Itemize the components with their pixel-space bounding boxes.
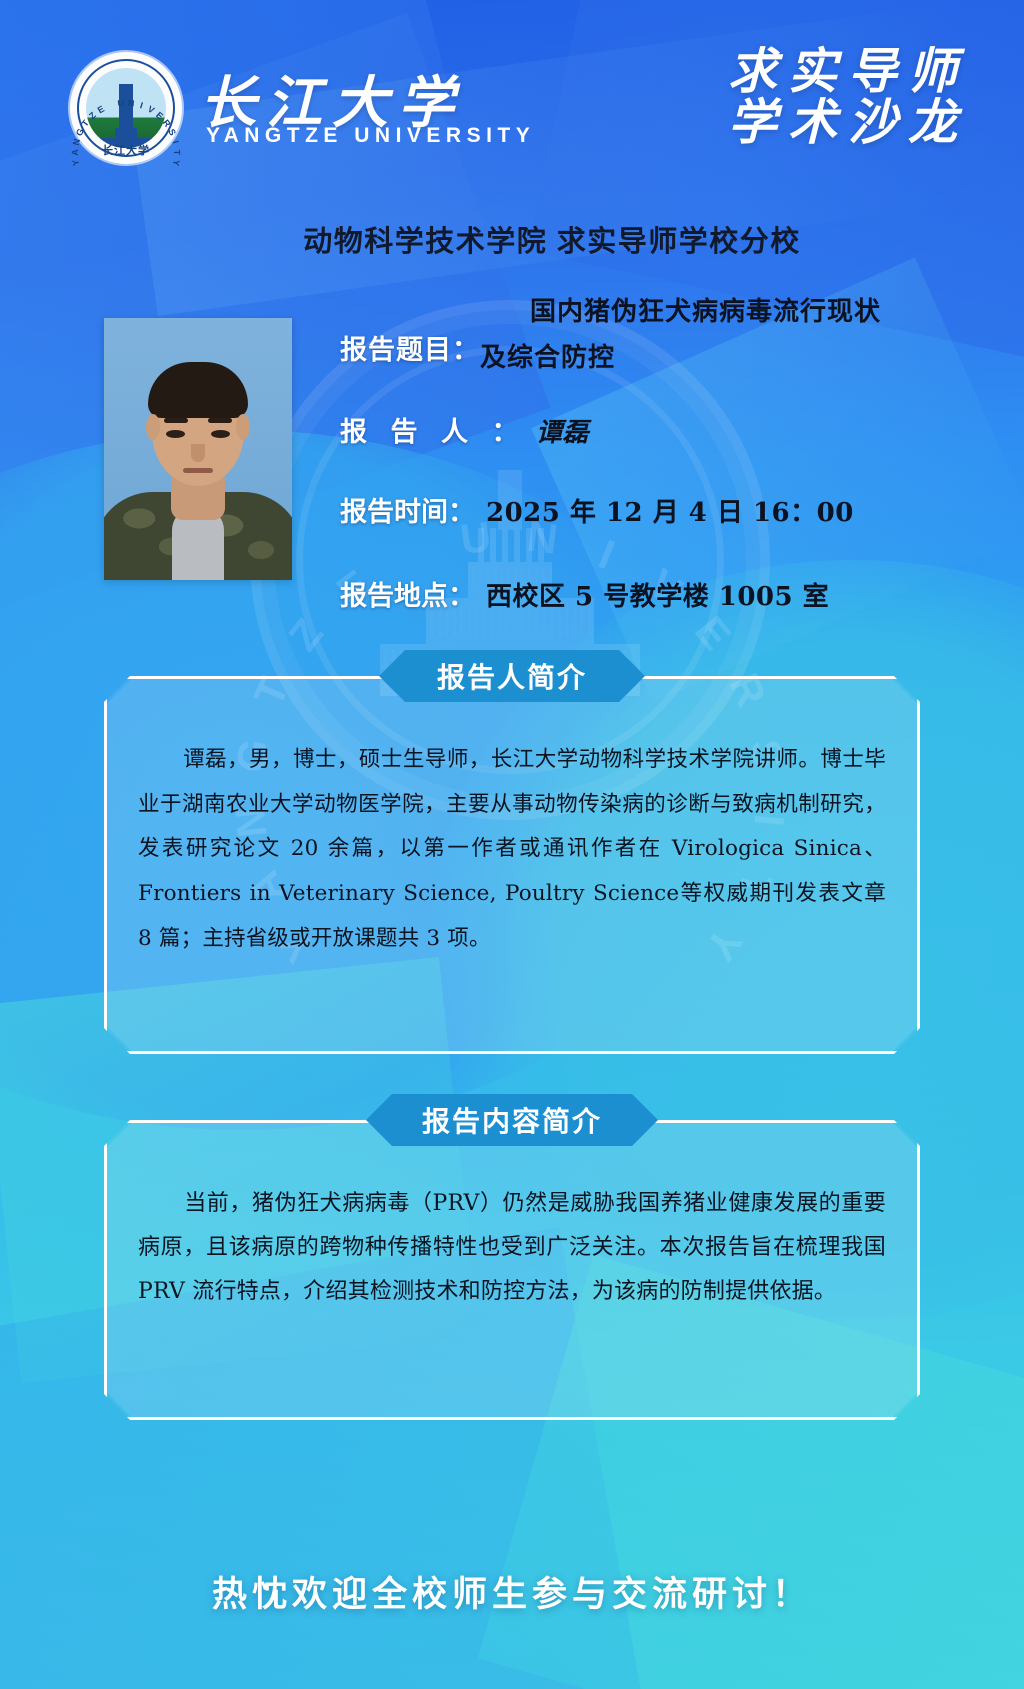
info-row-speaker: 报 告 人 ： 谭磊 [340,410,980,484]
time-label: 报告时间： [340,490,475,529]
info-row-title: 报告题目： 国内猪伪狂犬病病毒流行现状 及综合防控 [340,300,980,404]
info-row-time: 报告时间： 2025 年 12 月 4 日 16：00 [340,490,980,568]
calligraphy-line-2: 学术沙龙 [728,97,968,148]
title-value: 国内猪伪狂犬病病毒流行现状 及综合防控 [480,290,980,381]
speaker-bio-panel: 报告人简介 谭磊，男，博士，硕士生导师，长江大学动物科学技术学院讲师。博士毕业于… [104,676,920,1054]
photo-ear-right [236,414,250,440]
title-value-line-1: 国内猪伪狂犬病病毒流行现状 [480,290,980,336]
photo-eye-left [166,430,185,438]
photo-nose [191,444,205,462]
poster-footer: 热忱欢迎全校师生参与交流研讨！ [0,1566,1024,1617]
speaker-label: 报 告 人 ： [340,410,527,449]
event-calligraphy-title: 求实导师 学术沙龙 [728,46,968,149]
bio-text: 谭磊，男，博士，硕士生导师，长江大学动物科学技术学院讲师。博士毕业于湖南农业大学… [138,738,886,962]
photo-ear-left [146,414,160,440]
logo-cn-text: 长江大学 [70,142,182,158]
poster-header: YANGTZE UNIVERSITY 长江大学 长江大学 YANGTZE UNI… [0,0,1024,195]
poster-subtitle: 动物科学技术学院 求实导师学校分校 [0,218,1024,260]
bio-panel-body: 谭磊，男，博士，硕士生导师，长江大学动物科学技术学院讲师。博士毕业于湖南农业大学… [104,676,920,986]
photo-mouth [183,468,213,473]
university-name-en: YANGTZE UNIVERSITY [206,124,535,148]
info-row-place: 报告地点： 西校区 5 号教学楼 1005 室 [340,574,980,634]
speaker-photo [104,318,292,580]
content-text: 当前，猪伪狂犬病病毒（PRV）仍然是威胁我国养猪业健康发展的重要病原，且该病原的… [138,1182,886,1314]
content-summary-panel: 报告内容简介 当前，猪伪狂犬病病毒（PRV）仍然是威胁我国养猪业健康发展的重要病… [104,1120,920,1420]
time-value: 2025 年 12 月 4 日 16：00 [486,492,854,529]
photo-eye-right [211,430,230,438]
content-panel-body: 当前，猪伪狂犬病病毒（PRV）仍然是威胁我国养猪业健康发展的重要病原，且该病原的… [104,1120,920,1338]
photo-brow-right [208,418,232,423]
place-value: 西校区 5 号教学楼 1005 室 [486,576,829,613]
university-logo-icon: YANGTZE UNIVERSITY 长江大学 [70,52,182,164]
calligraphy-line-1: 求实导师 [728,46,968,97]
place-label: 报告地点： [340,574,475,613]
title-label: 报告题目： [340,328,480,367]
event-info-block: 报告题目： 国内猪伪狂犬病病毒流行现状 及综合防控 报 告 人 ： 谭磊 报告时… [340,300,980,640]
title-value-line-2: 及综合防控 [480,336,980,382]
speaker-name: 谭磊 [536,412,589,449]
photo-brow-left [164,418,188,423]
